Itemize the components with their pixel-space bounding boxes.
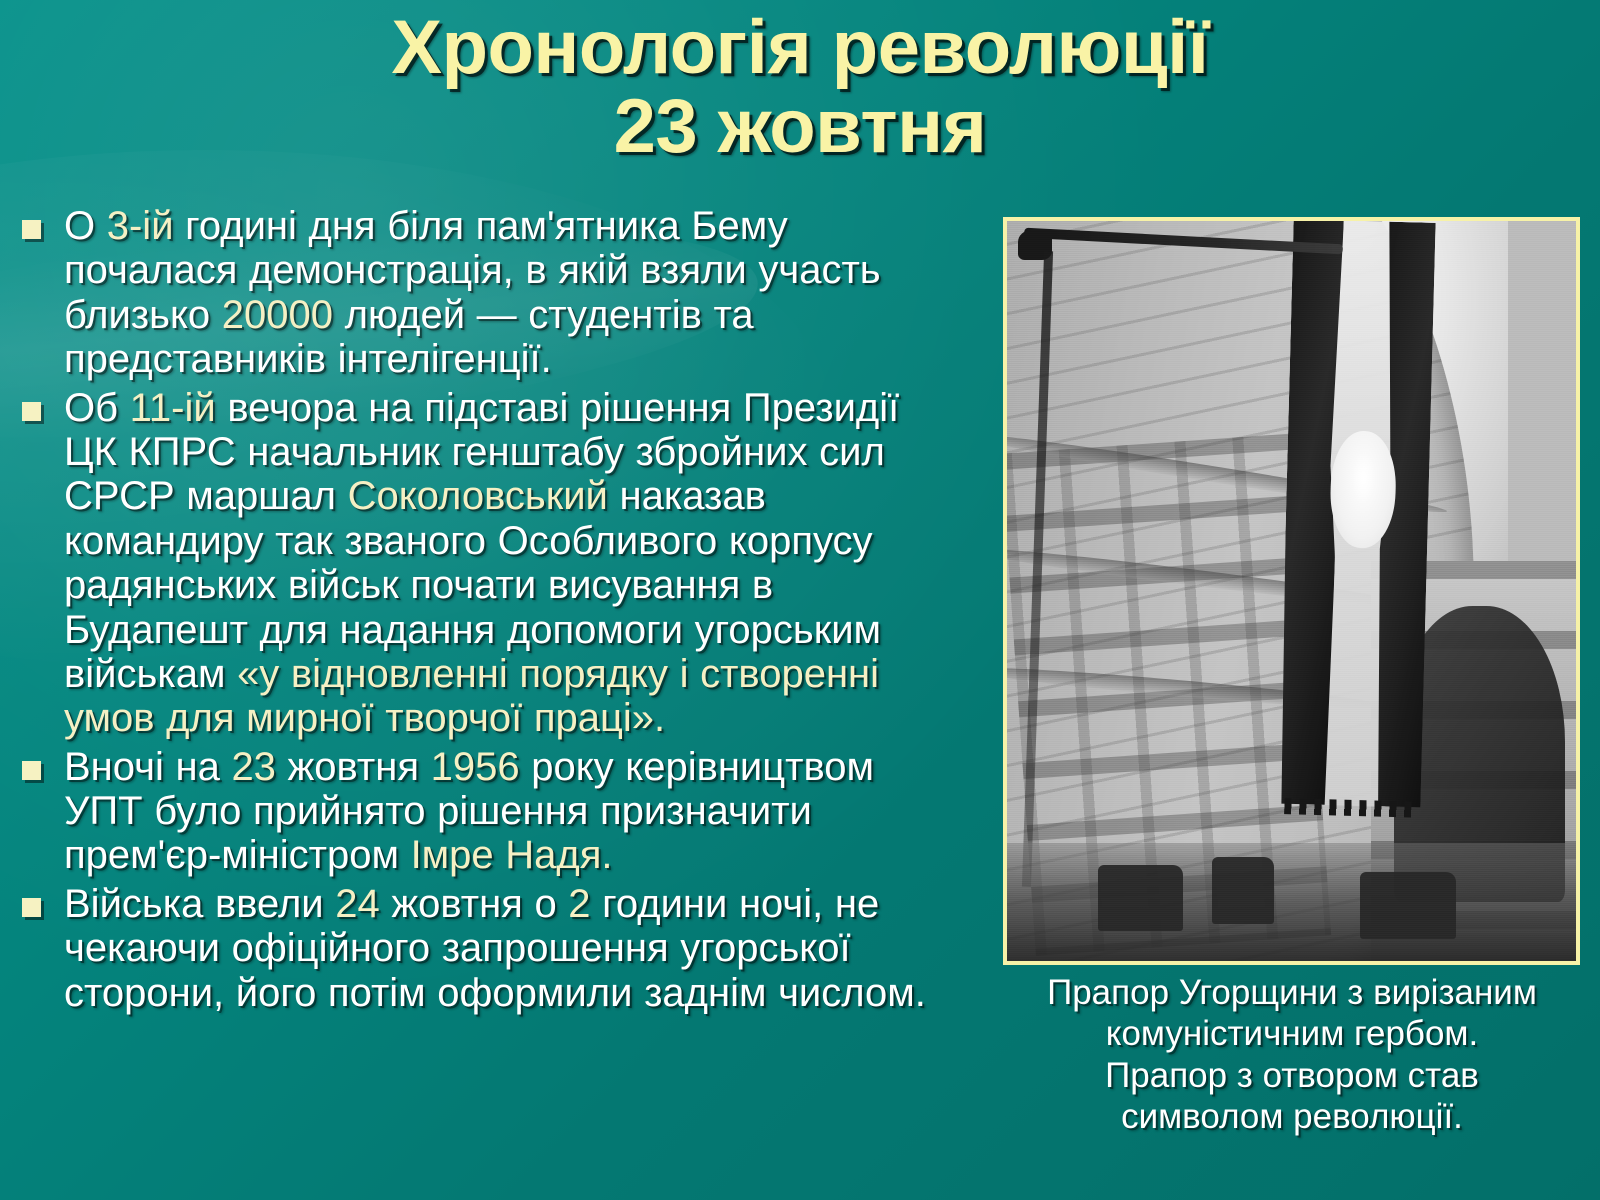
bullet-list: О 3-ій годині дня біля пам'ятника Бему п…	[8, 204, 954, 1015]
slide: Хронологія революції 23 жовтня О 3-ій го…	[0, 0, 1600, 1200]
square-bullet-icon	[22, 898, 41, 917]
photo-street	[1007, 843, 1576, 961]
photo-caption: Прапор Угорщини з вирізаним комуністични…	[988, 972, 1596, 1137]
caption-line-3: Прапор з отвором став	[988, 1055, 1596, 1096]
photo-vehicle	[1360, 872, 1457, 939]
list-item: Вночі на 23 жовтня 1956 року керівництво…	[8, 745, 954, 878]
caption-line-2: комуністичним гербом.	[988, 1013, 1596, 1054]
title-line-1: Хронологія революції	[0, 8, 1600, 87]
bullet-text: Об 11-ій вечора на підставі рішення През…	[64, 386, 954, 741]
square-bullet-icon	[22, 220, 41, 239]
list-item: Війська ввели 24 жовтня о 2 години ночі,…	[8, 882, 954, 1015]
page-title: Хронологія революції 23 жовтня	[0, 8, 1600, 166]
caption-line-1: Прапор Угорщини з вирізаним	[988, 972, 1596, 1013]
photo-content	[1007, 221, 1576, 961]
photo-vehicle	[1212, 857, 1275, 924]
photo-flag-with-hole	[1278, 219, 1441, 807]
title-line-2: 23 жовтня	[0, 87, 1600, 166]
historic-photo	[1003, 217, 1580, 965]
photo-vehicle	[1098, 865, 1183, 932]
photo-flag-fringe	[1284, 798, 1412, 817]
bullet-list-container: О 3-ій годині дня біля пам'ятника Бему п…	[8, 204, 954, 1019]
bullet-text: О 3-ій годині дня біля пам'ятника Бему п…	[64, 204, 954, 382]
list-item: О 3-ій годині дня біля пам'ятника Бему п…	[8, 204, 954, 382]
caption-line-4: символом революції.	[988, 1096, 1596, 1137]
square-bullet-icon	[22, 402, 41, 421]
bullet-text: Вночі на 23 жовтня 1956 року керівництво…	[64, 745, 954, 878]
square-bullet-icon	[22, 761, 41, 780]
list-item: Об 11-ій вечора на підставі рішення През…	[8, 386, 954, 741]
bullet-text: Війська ввели 24 жовтня о 2 години ночі,…	[64, 882, 954, 1015]
